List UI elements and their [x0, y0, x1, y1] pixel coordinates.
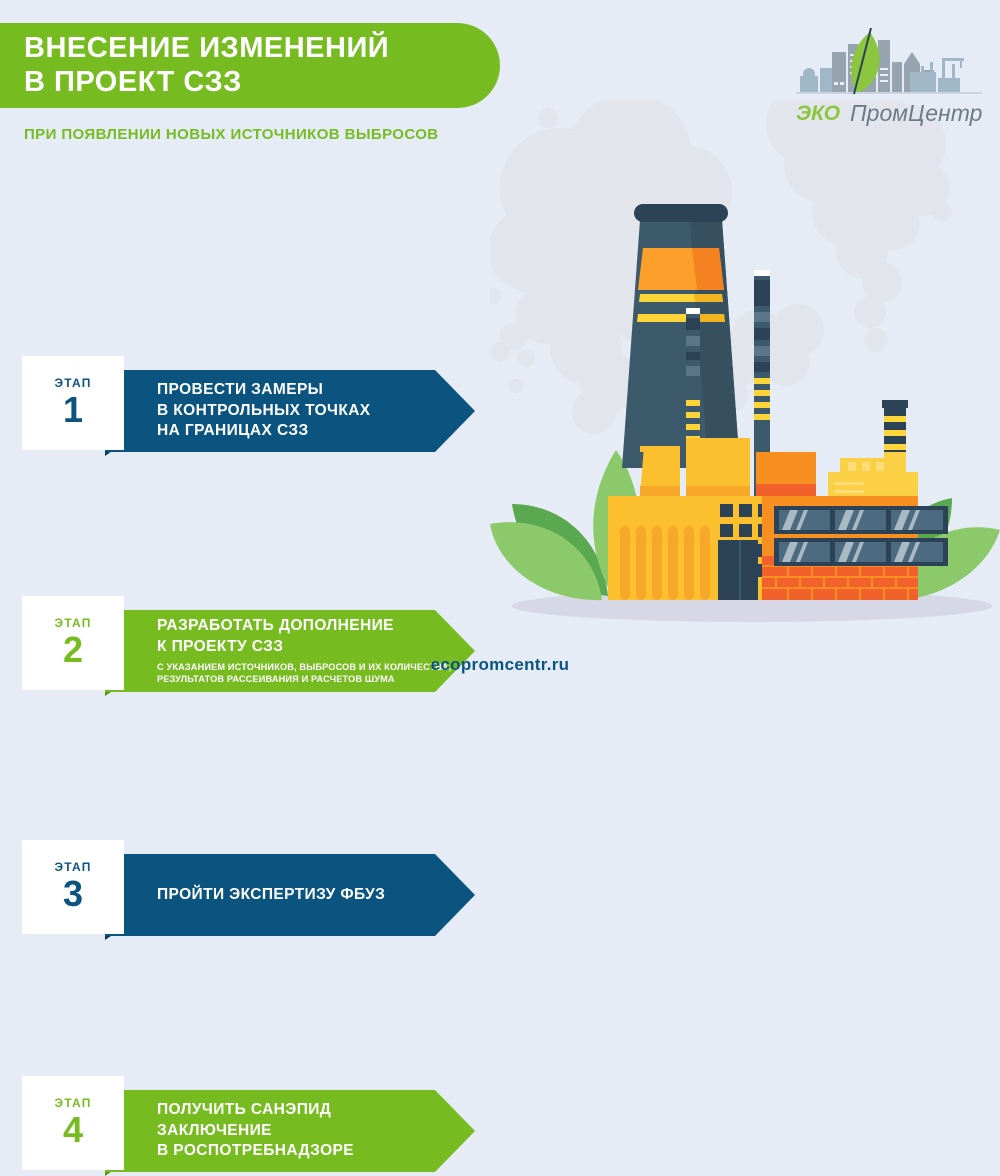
step-2-line-1: РАЗРАБОТАТЬ ДОПОЛНЕНИЕ: [157, 616, 419, 637]
step-1-number: 1: [63, 391, 83, 429]
page-title-line-2: В ПРОЕКТ СЗЗ: [24, 66, 500, 100]
step-4-number: 4: [63, 1111, 83, 1149]
logo-text-eco: ЭКО: [796, 102, 840, 125]
door: [718, 540, 758, 600]
step-4-arrow[interactable]: ПОЛУЧИТЬ САНЭПИД ЗАКЛЮЧЕНИЕ В РОСПОТРЕБН…: [105, 1090, 475, 1172]
step-2-arrow[interactable]: РАЗРАБОТАТЬ ДОПОЛНЕНИЕ К ПРОЕКТУ СЗЗ С У…: [105, 610, 475, 692]
step-1-badge-label: ЭТАП: [54, 377, 91, 389]
step-3-line-1: ПРОЙТИ ЭКСПЕРТИЗУ ФБУЗ: [157, 885, 419, 906]
roof-shapes: [640, 438, 816, 496]
factory-illustration: [490, 100, 1000, 660]
step-1-arrow[interactable]: ПРОВЕСТИ ЗАМЕРЫ В КОНТРОЛЬНЫХ ТОЧКАХ НА …: [105, 370, 475, 452]
step-4-line-1: ПОЛУЧИТЬ САНЭПИД: [157, 1100, 419, 1121]
step-1-line-3: НА ГРАНИЦАХ СЗЗ: [157, 421, 419, 442]
step-4-line-3: В РОСПОТРЕБНАДЗОРЕ: [157, 1141, 419, 1162]
page-title-line-1: ВНЕСЕНИЕ ИЗМЕНЕНИЙ: [24, 32, 500, 66]
step-3-badge: ЭТАП 3: [22, 840, 124, 934]
step-2-badge-label: ЭТАП: [54, 617, 91, 629]
step-2-badge: ЭТАП 2: [22, 596, 124, 690]
step-3-number: 3: [63, 875, 83, 913]
main-chimney: [622, 204, 740, 468]
step-4-line-2: ЗАКЛЮЧЕНИЕ: [157, 1121, 419, 1142]
page-subtitle: ПРИ ПОЯВЛЕНИИ НОВЫХ ИСТОЧНИКОВ ВЫБРОСОВ: [24, 126, 439, 143]
step-3-arrow[interactable]: ПРОЙТИ ЭКСПЕРТИЗУ ФБУЗ: [105, 854, 475, 936]
infographic-canvas: ВНЕСЕНИЕ ИЗМЕНЕНИЙ В ПРОЕКТ СЗЗ ПРИ ПОЯВ…: [0, 0, 1000, 700]
step-1-line-1: ПРОВЕСТИ ЗАМЕРЫ: [157, 380, 419, 401]
page-title-banner: ВНЕСЕНИЕ ИЗМЕНЕНИЙ В ПРОЕКТ СЗЗ: [0, 23, 500, 108]
step-1-badge: ЭТАП 1: [22, 356, 124, 450]
logo-ecopromcentr[interactable]: ЭКО ПромЦентр: [792, 18, 992, 128]
step-2-number: 2: [63, 631, 83, 669]
step-3-badge-label: ЭТАП: [54, 861, 91, 873]
step-4-badge-label: ЭТАП: [54, 1097, 91, 1109]
footer-website[interactable]: ecopromcentr.ru: [0, 655, 1000, 675]
logo-text-promcentr: ПромЦентр: [850, 100, 983, 126]
step-1-line-2: В КОНТРОЛЬНЫХ ТОЧКАХ: [157, 401, 419, 422]
step-4-badge: ЭТАП 4: [22, 1076, 124, 1170]
